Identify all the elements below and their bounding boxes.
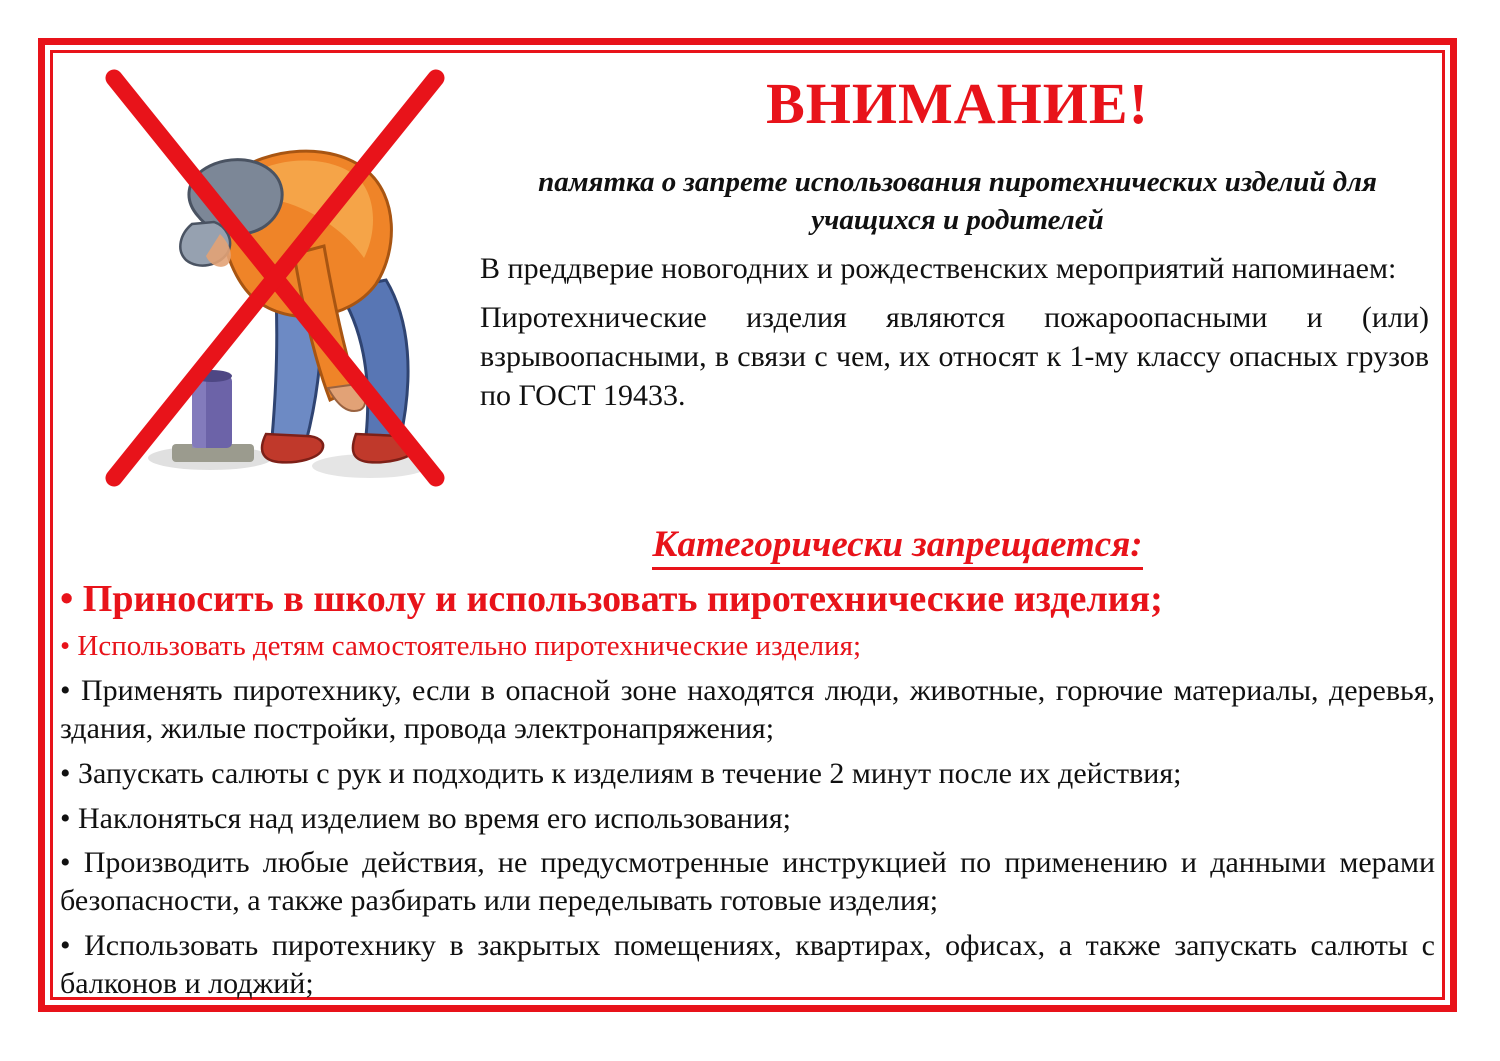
- list-item: • Использовать детям самостоятельно пиро…: [60, 628, 1435, 665]
- prohibition-list: • Приносить в школу и использовать пирот…: [60, 578, 1435, 1003]
- list-item: • Запускать салюты с рук и подходить к и…: [60, 755, 1435, 793]
- intro-paragraph-2: Пиротехнические изделия являются пожароо…: [480, 298, 1429, 415]
- prohibition-heading: Категорически запрещается:: [56, 523, 1439, 566]
- top-section: ВНИМАНИЕ! памятка о запрете использовани…: [56, 56, 1439, 511]
- list-item: • Наклоняться над изделием во время его …: [60, 800, 1435, 838]
- poster-content: ВНИМАНИЕ! памятка о запрете использовани…: [56, 56, 1439, 994]
- poster-subtitle: памятка о запрете использования пиротехн…: [514, 163, 1401, 240]
- attention-title: ВНИМАНИЕ!: [480, 74, 1435, 135]
- list-item: • Применять пиротехнику, если в опасной …: [60, 672, 1435, 748]
- prohibition-illustration: [80, 58, 480, 508]
- list-item: • Приносить в школу и использовать пирот…: [60, 578, 1435, 622]
- list-item: • Использовать пиротехнику в закрытых по…: [60, 927, 1435, 1003]
- poster-root: ВНИМАНИЕ! памятка о запрете использовани…: [0, 0, 1500, 1061]
- intro-paragraph-1: В преддверие новогодних и рождественских…: [480, 249, 1429, 288]
- prohibition-heading-text: Категорически запрещается:: [652, 524, 1142, 570]
- bending-over-firework-icon: [80, 58, 480, 508]
- list-item: • Производить любые действия, не предусм…: [60, 844, 1435, 920]
- header-column: ВНИМАНИЕ! памятка о запрете использовани…: [480, 56, 1435, 415]
